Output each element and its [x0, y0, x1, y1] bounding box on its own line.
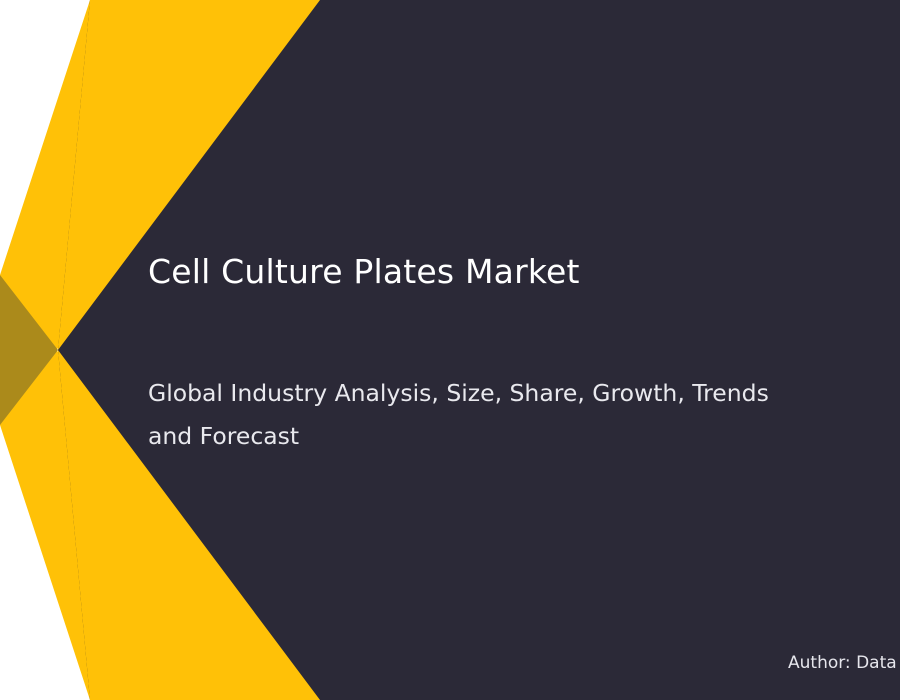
- author-block: Author: Data: [788, 652, 900, 674]
- title-block: Cell Culture Plates Market: [148, 252, 868, 292]
- title-slide: Cell Culture Plates Market Global Indust…: [0, 0, 900, 700]
- author-label: Author: Data: [788, 652, 900, 674]
- slide-content: Cell Culture Plates Market Global Indust…: [0, 0, 900, 700]
- page-title: Cell Culture Plates Market: [148, 252, 868, 292]
- subtitle-block: Global Industry Analysis, Size, Share, G…: [148, 372, 788, 458]
- page-subtitle: Global Industry Analysis, Size, Share, G…: [148, 372, 788, 458]
